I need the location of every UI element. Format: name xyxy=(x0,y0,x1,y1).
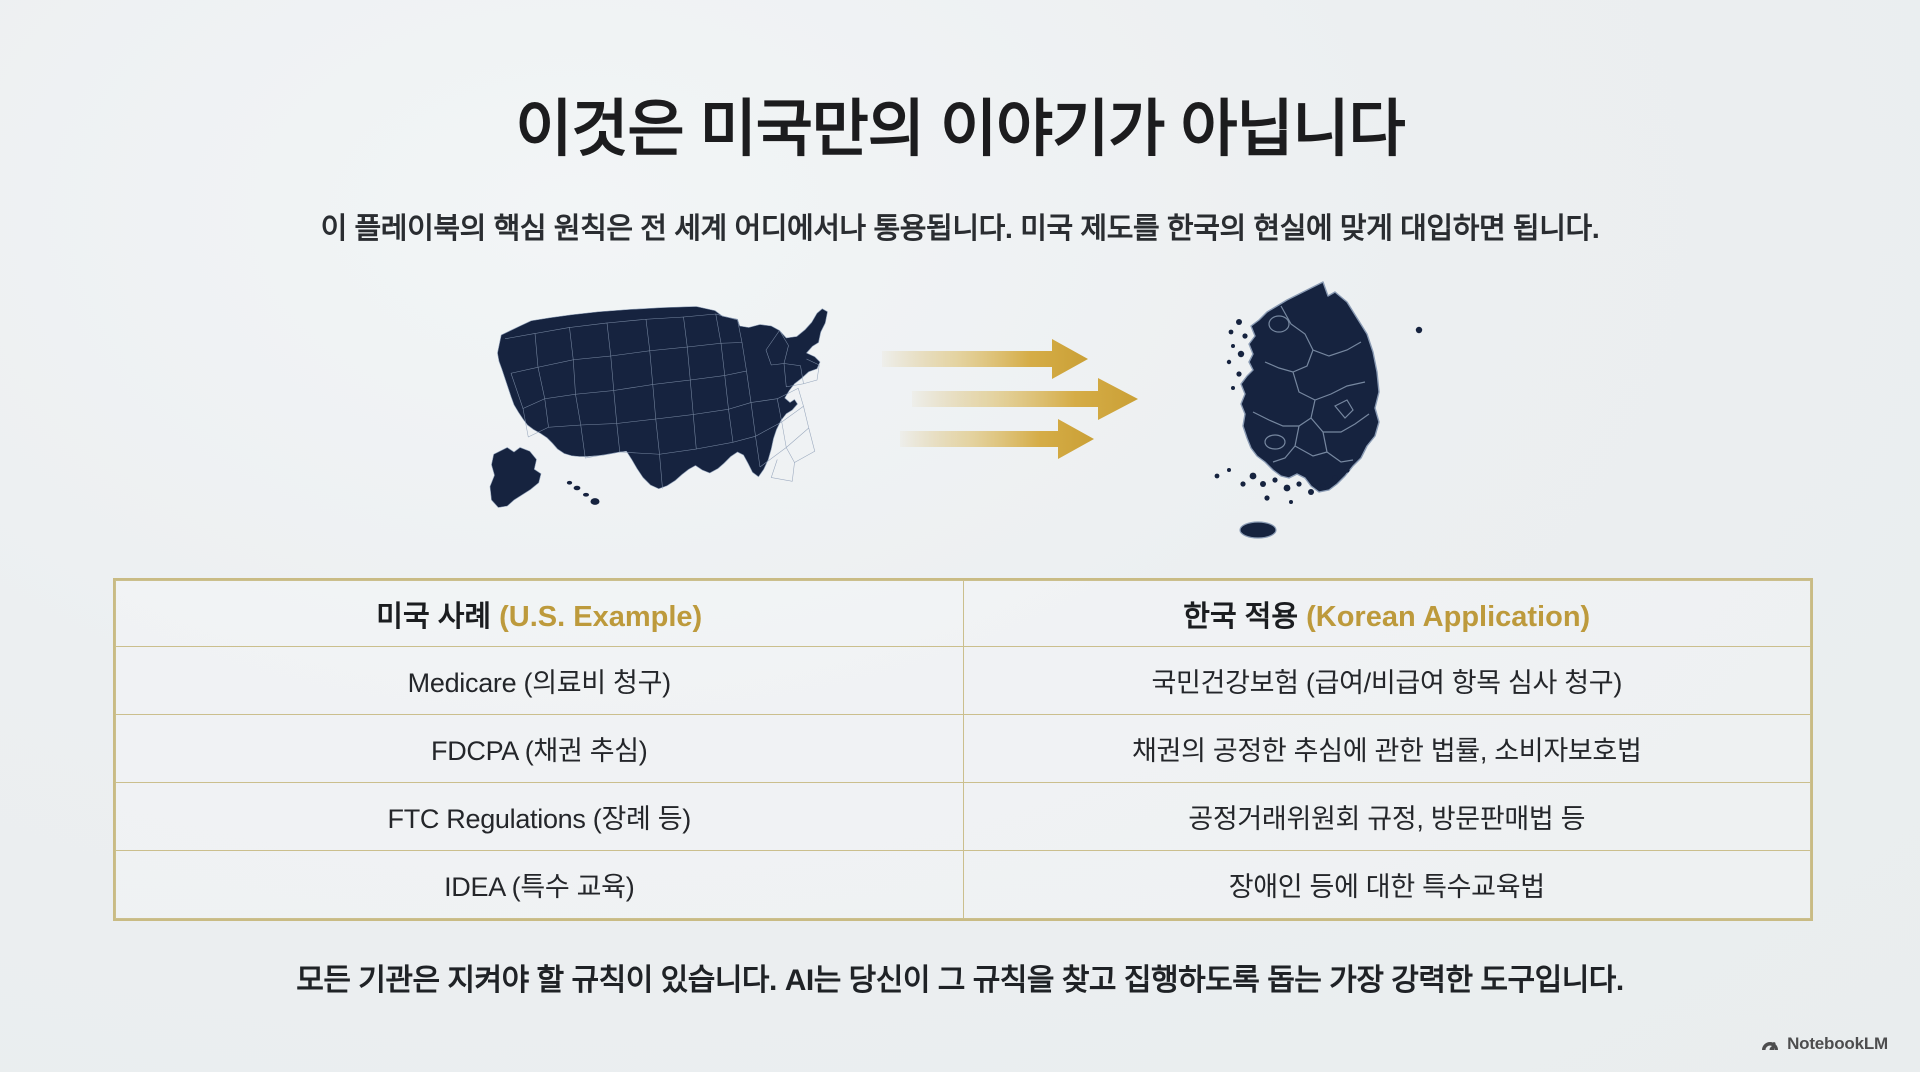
cell-us-example: IDEA (특수 교육) xyxy=(116,851,964,919)
table-header-kr-ko: 한국 적용 xyxy=(1183,601,1306,633)
table-row: Medicare (의료비 청구) 국민건강보험 (급여/비급여 항목 심사 청… xyxy=(116,647,1811,715)
notebooklm-watermark-label: NotebookLM xyxy=(1787,1034,1888,1054)
table-header-kr: 한국 적용 (Korean Application) xyxy=(963,581,1811,647)
alaska-shape xyxy=(490,448,541,508)
slide-root: 이것은 미국만의 이야기가 아닙니다 이 플레이북의 핵심 원칙은 전 세계 어… xyxy=(0,0,1920,1072)
table-row: IDEA (특수 교육) 장애인 등에 대한 특수교육법 xyxy=(116,851,1811,919)
hawaii-shape xyxy=(567,481,600,505)
map-comparison-graphic xyxy=(0,285,1920,555)
cell-us-example: FTC Regulations (장례 등) xyxy=(116,783,964,851)
cell-kr-application: 채권의 공정한 추심에 관한 법률, 소비자보호법 xyxy=(963,715,1811,783)
table-row: FTC Regulations (장례 등) 공정거래위원회 규정, 방문판매법… xyxy=(116,783,1811,851)
comparison-table: 미국 사례 (U.S. Example) 한국 적용 (Korean Appli… xyxy=(113,578,1813,921)
slide-subtitle: 이 플레이북의 핵심 원칙은 전 세계 어디에서나 통용됩니다. 미국 제도를 … xyxy=(0,205,1920,247)
notebooklm-logo-icon xyxy=(1760,1036,1780,1052)
united-states-map-icon xyxy=(455,290,855,515)
table-header-us-en: (U.S. Example) xyxy=(499,601,702,633)
page-title: 이것은 미국만의 이야기가 아닙니다 xyxy=(0,78,1920,168)
notebooklm-watermark: NotebookLM xyxy=(1760,1034,1888,1054)
table-header-us: 미국 사례 (U.S. Example) xyxy=(116,581,964,647)
table-header-us-ko: 미국 사례 xyxy=(376,601,499,633)
ulleungdo-shape xyxy=(1416,327,1422,333)
jeju-island-shape xyxy=(1240,522,1276,538)
cell-kr-application: 공정거래위원회 규정, 방문판매법 등 xyxy=(963,783,1811,851)
table-header-kr-en: (Korean Application) xyxy=(1306,601,1590,633)
cell-us-example: Medicare (의료비 청구) xyxy=(116,647,964,715)
three-right-arrows-icon xyxy=(880,333,1170,463)
cell-kr-application: 장애인 등에 대한 특수교육법 xyxy=(963,851,1811,919)
slide-caption: 모든 기관은 지켜야 할 규칙이 있습니다. AI는 당신이 그 규칙을 찾고 … xyxy=(0,955,1920,999)
table-row: FDCPA (채권 추심) 채권의 공정한 추심에 관한 법률, 소비자보호법 xyxy=(116,715,1811,783)
table-header-row: 미국 사례 (U.S. Example) 한국 적용 (Korean Appli… xyxy=(116,581,1811,647)
cell-kr-application: 국민건강보험 (급여/비급여 항목 심사 청구) xyxy=(963,647,1811,715)
south-korea-map-icon xyxy=(1195,280,1430,545)
cell-us-example: FDCPA (채권 추심) xyxy=(116,715,964,783)
